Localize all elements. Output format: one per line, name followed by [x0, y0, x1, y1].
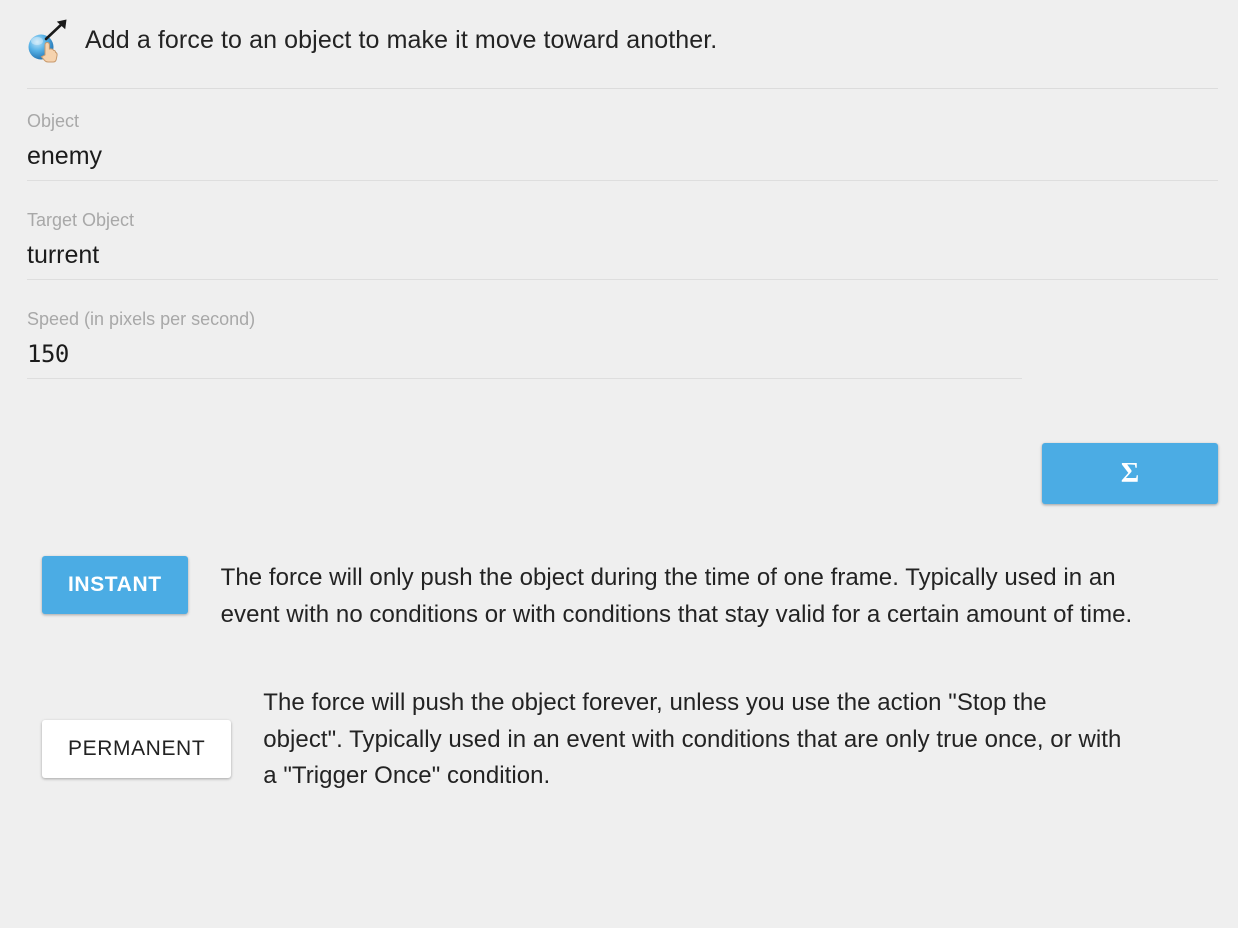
speed-field-label: Speed (in pixels per second) — [27, 308, 1238, 330]
page-title: Add a force to an object to make it move… — [85, 25, 717, 55]
permanent-button[interactable]: PERMANENT — [42, 720, 231, 778]
option-row-permanent: PERMANENT The force will push the object… — [42, 720, 1238, 795]
target-object-field: Target Object turrent — [0, 209, 1238, 280]
parameter-fields: Object enemy Target Object turrent Speed… — [0, 110, 1238, 407]
panel-header: Add a force to an object to make it move… — [0, 0, 1238, 62]
target-object-field-input[interactable]: turrent — [27, 239, 1238, 275]
object-field-input[interactable]: enemy — [27, 140, 1238, 176]
speed-field-input[interactable]: 150 — [27, 338, 1238, 374]
option-row-instant: INSTANT The force will only push the obj… — [42, 556, 1238, 633]
force-type-options: INSTANT The force will only push the obj… — [0, 556, 1238, 795]
object-field-label: Object — [27, 110, 1238, 132]
sigma-icon[interactable]: Σ — [1042, 443, 1218, 504]
header-divider — [27, 88, 1218, 89]
permanent-description: The force will push the object forever, … — [263, 685, 1123, 795]
instant-description: The force will only push the object duri… — [221, 560, 1161, 633]
speed-field: Speed (in pixels per second) 150 — [0, 308, 1238, 379]
object-field: Object enemy — [0, 110, 1238, 181]
target-object-field-label: Target Object — [27, 209, 1238, 231]
target-object-field-underline — [27, 279, 1218, 280]
speed-field-underline — [27, 378, 1022, 379]
force-toward-object-icon — [25, 17, 71, 63]
action-parameters-panel: Add a force to an object to make it move… — [0, 0, 1238, 928]
object-field-underline — [27, 180, 1218, 181]
instant-button[interactable]: INSTANT — [42, 556, 188, 614]
